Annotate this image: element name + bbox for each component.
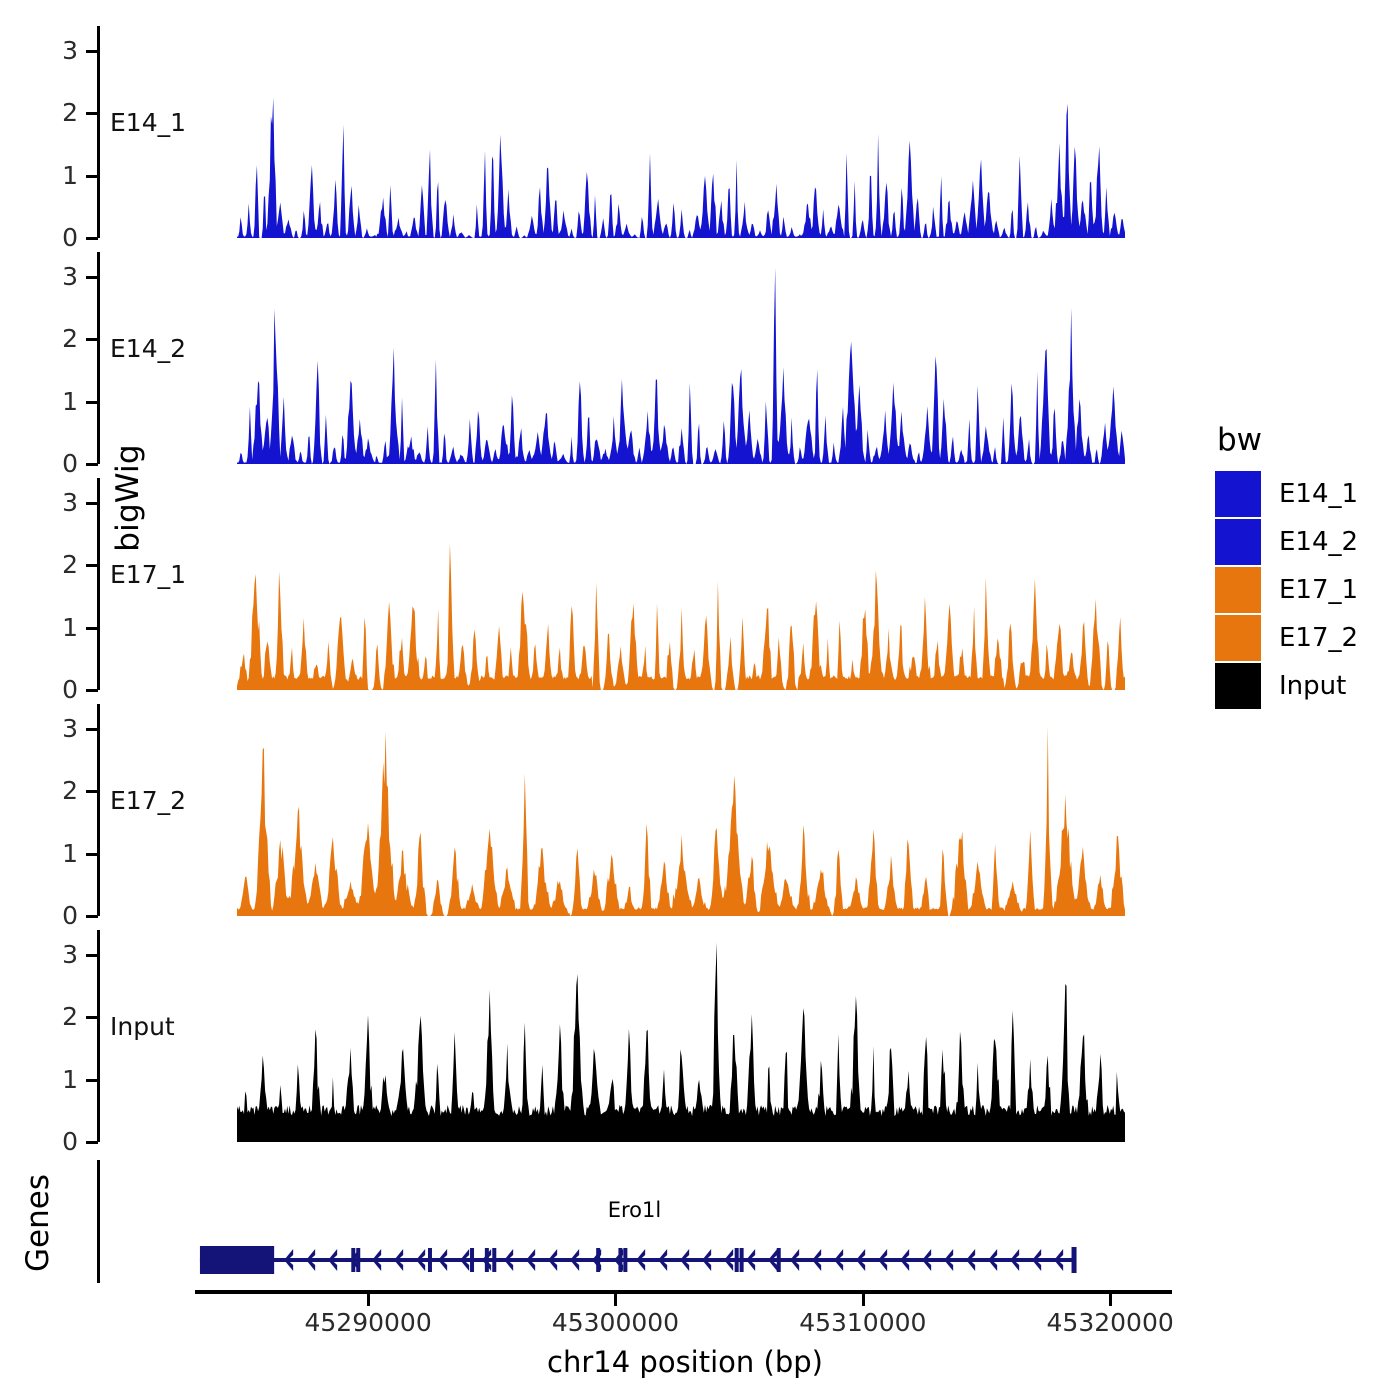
x-axis: 45290000453000004531000045320000 xyxy=(0,1290,1250,1350)
y-tick xyxy=(86,1079,98,1082)
x-tick-label: 45310000 xyxy=(799,1308,926,1337)
y-tick-label: 0 xyxy=(44,225,78,250)
y-tick xyxy=(86,564,98,567)
signal-trace-e17_1 xyxy=(100,478,1180,690)
y-tick xyxy=(86,689,98,692)
gene-exon-mark xyxy=(777,1248,781,1272)
legend-item-e14_2[interactable]: E14_2 xyxy=(1215,518,1395,566)
legend-items: E14_1E14_2E17_1E17_2Input xyxy=(1215,470,1395,710)
y-tick-label: 0 xyxy=(44,1129,78,1154)
plot-area xyxy=(100,704,1180,916)
signal-panel-e14_1: 0123E14_1 xyxy=(0,26,1180,238)
y-tick xyxy=(86,627,98,630)
legend-label: E17_1 xyxy=(1279,575,1358,605)
gene-exon-mark xyxy=(492,1248,496,1272)
x-tick xyxy=(862,1294,865,1306)
y-tick xyxy=(86,1141,98,1144)
y-tick-label: 1 xyxy=(44,615,78,640)
y-tick xyxy=(86,915,98,918)
legend-title: bw xyxy=(1217,425,1395,456)
signal-trace-e14_2 xyxy=(100,252,1180,464)
gene-exon-mark xyxy=(428,1248,432,1272)
signal-panel-e17_2: 0123E17_2 xyxy=(0,704,1180,916)
y-tick xyxy=(86,728,98,731)
plot-area xyxy=(100,930,1180,1142)
gene-exon-mark xyxy=(740,1248,744,1272)
y-tick xyxy=(86,954,98,957)
gene-exon-thick xyxy=(200,1246,274,1274)
y-tick xyxy=(86,175,98,178)
y-tick-label: 2 xyxy=(44,778,78,803)
signal-trace-e14_1 xyxy=(100,26,1180,238)
legend-label: E17_2 xyxy=(1279,623,1358,653)
y-tick-label: 0 xyxy=(44,677,78,702)
y-tick xyxy=(86,1016,98,1019)
y-tick xyxy=(86,502,98,505)
legend-item-e17_2[interactable]: E17_2 xyxy=(1215,614,1395,662)
signal-trace-e17_2 xyxy=(100,704,1180,916)
legend-label: Input xyxy=(1279,671,1346,701)
gene-exon-mark xyxy=(470,1248,474,1272)
y-tick xyxy=(86,237,98,240)
x-tick xyxy=(614,1294,617,1306)
plot-area xyxy=(100,478,1180,690)
y-tick-label: 1 xyxy=(44,389,78,414)
y-tick xyxy=(86,112,98,115)
y-tick-label: 1 xyxy=(44,1067,78,1092)
y-tick-label: 2 xyxy=(44,552,78,577)
y-tick xyxy=(86,401,98,404)
y-tick-label: 2 xyxy=(44,100,78,125)
y-tick-label: 2 xyxy=(44,326,78,351)
y-tick-label: 0 xyxy=(44,451,78,476)
signal-panel-e14_2: 0123E14_2 xyxy=(0,252,1180,464)
y-tick-label: 3 xyxy=(44,716,78,741)
gene-exon-mark xyxy=(623,1248,627,1272)
legend-color-swatch xyxy=(1215,471,1261,517)
legend-item-input[interactable]: Input xyxy=(1215,662,1395,710)
gene-name-label: Ero1l xyxy=(608,1198,661,1222)
y-tick xyxy=(86,338,98,341)
genes-track-panel: Ero1l xyxy=(0,1160,1180,1300)
gene-exon-mark xyxy=(735,1248,739,1272)
gene-model[interactable] xyxy=(0,1160,1180,1300)
legend-color-swatch xyxy=(1215,519,1261,565)
y-tick-label: 3 xyxy=(44,942,78,967)
y-tick xyxy=(86,276,98,279)
x-tick-label: 45300000 xyxy=(552,1308,679,1337)
legend-item-e17_1[interactable]: E17_1 xyxy=(1215,566,1395,614)
legend-color-swatch xyxy=(1215,615,1261,661)
y-tick-label: 2 xyxy=(44,1004,78,1029)
x-tick-label: 45320000 xyxy=(1047,1308,1174,1337)
bigwig-genome-browser-figure: bigWig Genes 0123E14_10123E14_20123E17_1… xyxy=(0,0,1400,1400)
y-tick xyxy=(86,790,98,793)
legend-label: E14_1 xyxy=(1279,479,1358,509)
x-tick xyxy=(367,1294,370,1306)
plot-area xyxy=(100,26,1180,238)
x-axis-title: chr14 position (bp) xyxy=(195,1345,1175,1379)
signal-panel-e17_1: 0123E17_1 xyxy=(0,478,1180,690)
gene-exon-end xyxy=(1072,1247,1077,1273)
x-axis-line xyxy=(195,1290,1172,1294)
y-tick-label: 3 xyxy=(44,490,78,515)
legend-color-swatch xyxy=(1215,663,1261,709)
plot-area xyxy=(100,252,1180,464)
genes-axis-line xyxy=(97,1160,100,1283)
signal-panel-input: 0123Input xyxy=(0,930,1180,1142)
y-tick-label: 3 xyxy=(44,264,78,289)
y-tick-label: 0 xyxy=(44,903,78,928)
y-tick xyxy=(86,463,98,466)
y-tick xyxy=(86,50,98,53)
y-tick-label: 1 xyxy=(44,841,78,866)
legend-label: E14_2 xyxy=(1279,527,1358,557)
legend-color-swatch xyxy=(1215,567,1261,613)
signal-trace-input xyxy=(100,930,1180,1142)
x-tick xyxy=(1109,1294,1112,1306)
x-tick-label: 45290000 xyxy=(305,1308,432,1337)
legend: bw E14_1E14_2E17_1E17_2Input xyxy=(1215,425,1395,710)
y-tick-label: 3 xyxy=(44,38,78,63)
legend-item-e14_1[interactable]: E14_1 xyxy=(1215,470,1395,518)
y-tick xyxy=(86,853,98,856)
y-tick-label: 1 xyxy=(44,163,78,188)
